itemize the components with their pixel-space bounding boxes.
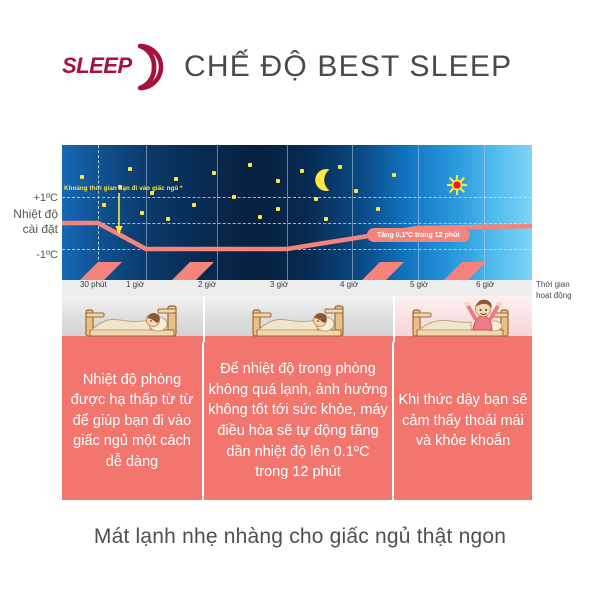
bed-panels: [62, 296, 532, 342]
y-axis-bottom-label: -1ºC: [36, 249, 58, 261]
header: SLEEP CHẾ ĐỘ BEST SLEEP: [0, 32, 600, 102]
infographic-page: SLEEP CHẾ ĐỘ BEST SLEEP +1ºC Nhiệt độ cà…: [0, 0, 600, 600]
y-axis-mid-label-1: Nhiệt độ: [13, 207, 58, 221]
y-axis-top-label: +1ºC: [33, 192, 58, 204]
bed-panel-waking: [395, 296, 532, 342]
info-box-cooling: Nhiệt độ phòng được hạ thấp từ từ để giú…: [62, 342, 204, 500]
x-tick-30phut: 30 phút: [80, 280, 107, 289]
x-tick-4gio: 4 giờ: [340, 280, 358, 289]
activity-time-line2: hoạt động: [536, 291, 572, 302]
logo-text: SLEEP: [62, 53, 132, 79]
x-tick-5gio: 5 giờ: [410, 280, 428, 289]
progress-arrow-band: [62, 258, 532, 280]
activity-time-line1: Thời gian: [536, 280, 572, 291]
crescent-moon-icon: [124, 43, 172, 91]
warming-badge: Tăng 0.1ºC trong 12 phút: [367, 228, 470, 242]
y-axis-mid-label-2: cài đặt: [23, 222, 58, 236]
person-sleeping-in-bed-icon: [247, 300, 351, 340]
bed-panel-sleeping-2: [205, 296, 395, 342]
footer-tagline: Mát lạnh nhẹ nhàng cho giấc ngủ thật ngo…: [0, 525, 600, 549]
x-tick-6gio: 6 giờ: [476, 280, 494, 289]
page-title: CHẾ ĐỘ BEST SLEEP: [184, 50, 512, 84]
temperature-chart: +1ºC Nhiệt độ cài đặt -1ºC: [0, 145, 600, 295]
activity-time-label: Thời gian hoạt động: [536, 280, 572, 302]
bed-panel-sleeping: [62, 296, 205, 342]
sleep-logo: SLEEP: [58, 39, 178, 95]
x-tick-2gio: 2 giờ: [198, 280, 216, 289]
y-axis-labels: +1ºC Nhiệt độ cài đặt -1ºC: [0, 145, 62, 280]
info-box-warming: Để nhiệt độ trong phòng không quá lạnh, …: [204, 342, 394, 500]
time-axis: 30 phút 1 giờ 2 giờ 3 giờ 4 giờ 5 giờ 6 …: [62, 280, 532, 296]
person-sleeping-in-bed-icon: [80, 300, 184, 340]
info-box-wakeup: Khi thức dậy bạn sẽ cảm thấy thoải mái v…: [394, 342, 532, 500]
down-arrow-icon: [114, 193, 124, 235]
info-boxes: Nhiệt độ phòng được hạ thấp từ từ để giú…: [62, 342, 532, 500]
person-waking-up-in-bed-icon: [409, 296, 519, 340]
x-tick-1gio: 1 giờ: [126, 280, 144, 289]
sleep-onset-note: Khoảng thời gian bạn đi vào giấc ngủ *: [64, 185, 183, 192]
x-tick-3gio: 3 giờ: [270, 280, 288, 289]
